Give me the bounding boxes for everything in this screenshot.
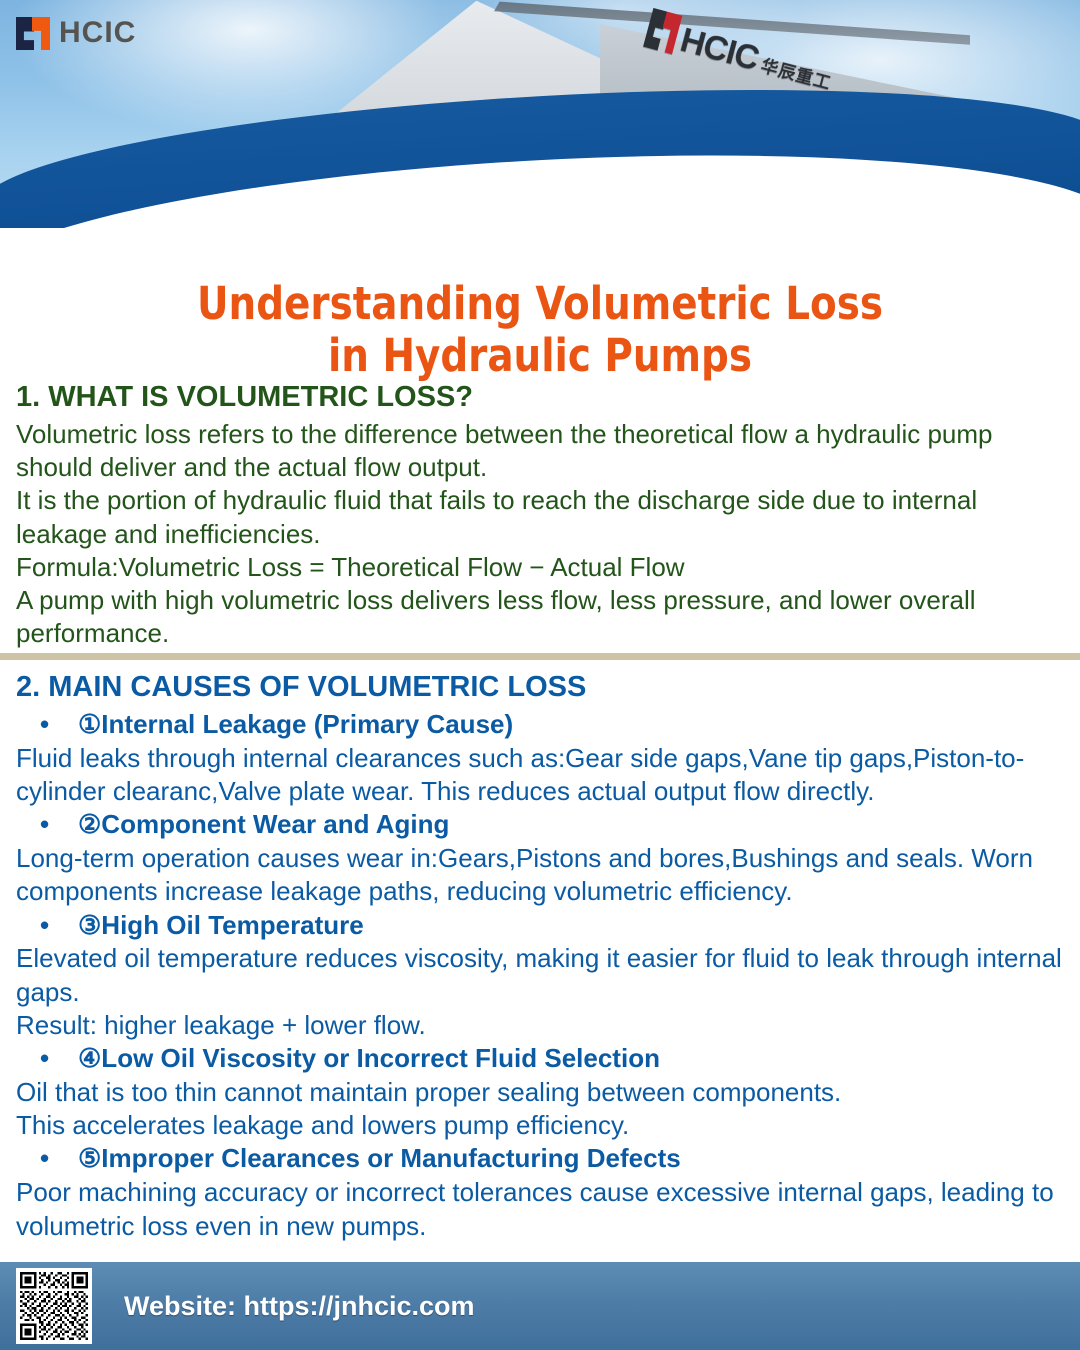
- cause-item-2-title: ②Component Wear and Aging: [78, 808, 449, 842]
- header-bottom-mask: [0, 228, 1080, 232]
- section-1-paragraph-2: It is the portion of hydraulic fluid tha…: [16, 484, 1068, 551]
- section-2-heading: 2. MAIN CAUSES OF VOLUMETRIC LOSS: [16, 672, 1068, 704]
- qr-code-svg: [20, 1272, 88, 1340]
- cause-item-3-label: • ③High Oil Temperature: [16, 909, 1068, 943]
- section-main-causes: 2. MAIN CAUSES OF VOLUMETRIC LOSS • ①Int…: [16, 672, 1068, 1243]
- cause-item-3-title: ③High Oil Temperature: [78, 909, 364, 943]
- page-title: Understanding Volumetric Loss in Hydraul…: [22, 278, 1059, 382]
- cause-item-4-body: Oil that is too thin cannot maintain pro…: [16, 1076, 1068, 1143]
- footer-website-label[interactable]: Website: https://jnhcic.com: [124, 1291, 475, 1322]
- bullet-dot-icon: •: [40, 808, 49, 842]
- cause-item-1-label: • ①Internal Leakage (Primary Cause): [16, 708, 1068, 742]
- section-what-is-volumetric-loss: 1. WHAT IS VOLUMETRIC LOSS? Volumetric l…: [16, 382, 1068, 651]
- cause-item-5-title: ⑤Improper Clearances or Manufacturing De…: [78, 1142, 681, 1176]
- footer-bar: Website: https://jnhcic.com: [0, 1262, 1080, 1350]
- bullet-dot-icon: •: [40, 909, 49, 943]
- cause-item-1-title: ①Internal Leakage (Primary Cause): [78, 708, 513, 742]
- bullet-dot-icon: •: [40, 708, 49, 742]
- cause-item-5-label: • ⑤Improper Clearances or Manufacturing …: [16, 1142, 1068, 1176]
- header-banner: HCIC 华辰重工: [0, 0, 1080, 232]
- section-divider: [0, 653, 1080, 660]
- bullet-dot-icon: •: [40, 1142, 49, 1176]
- cause-item-3-body: Elevated oil temperature reduces viscosi…: [16, 942, 1068, 1042]
- section-1-paragraph-1: Volumetric loss refers to the difference…: [16, 418, 1068, 485]
- cause-item-2-label: • ②Component Wear and Aging: [16, 808, 1068, 842]
- bullet-dot-icon: •: [40, 1042, 49, 1076]
- qr-code-icon[interactable]: [16, 1268, 92, 1344]
- cause-item-5-body: Poor machining accuracy or incorrect tol…: [16, 1176, 1068, 1243]
- cause-item-4-label: • ④Low Oil Viscosity or Incorrect Fluid …: [16, 1042, 1068, 1076]
- brand-logo-text: HCIC: [59, 18, 136, 48]
- cause-item-1-body: Fluid leaks through internal clearances …: [16, 742, 1068, 809]
- cause-item-2-body: Long-term operation causes wear in:Gears…: [16, 842, 1068, 909]
- brand-logo[interactable]: HCIC: [16, 16, 136, 50]
- cause-item-4-title: ④Low Oil Viscosity or Incorrect Fluid Se…: [78, 1042, 660, 1076]
- section-1-heading: 1. WHAT IS VOLUMETRIC LOSS?: [16, 382, 1068, 414]
- section-1-paragraph-4: A pump with high volumetric loss deliver…: [16, 584, 1068, 651]
- page-title-line-2: in Hydraulic Pumps: [22, 330, 1059, 382]
- hcic-logo-icon: [16, 16, 50, 50]
- section-1-paragraph-3: Formula:Volumetric Loss = Theoretical Fl…: [16, 551, 1068, 584]
- page-title-line-1: Understanding Volumetric Loss: [197, 277, 883, 330]
